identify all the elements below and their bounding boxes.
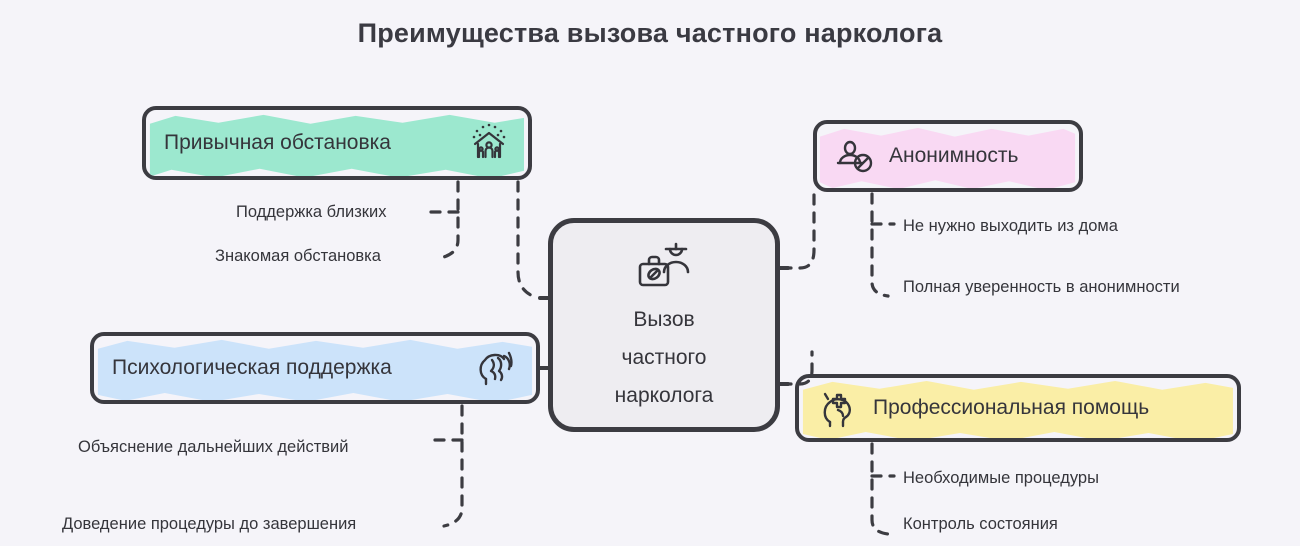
leaf-label-blue-2: Доведение процедуры до завершения	[62, 515, 356, 534]
center-label-line3: нарколога	[615, 382, 714, 410]
leaf-label-green-2: Знакомая обстановка	[215, 247, 381, 266]
center-node[interactable]: Вызов частного нарколога	[548, 218, 780, 432]
connector-pink-to-leaves	[872, 194, 888, 296]
leaf-label-yellow-1: Необходимые процедуры	[903, 469, 1099, 488]
center-label-line2: частного	[622, 344, 707, 372]
leaf-label-pink-1: Не нужно выходить из дома	[903, 217, 1118, 236]
branch-node-blue[interactable]: Психологическая поддержка	[90, 332, 540, 404]
branch-label-green: Привычная обстановка	[164, 131, 391, 155]
connector-green-to-center	[518, 182, 538, 298]
home-family-icon	[468, 122, 510, 164]
connector-center-to-pink	[782, 194, 814, 268]
branch-node-yellow[interactable]: Профессиональная помощь	[795, 374, 1241, 442]
branch-node-green[interactable]: Привычная обстановка	[142, 106, 532, 180]
doctor-with-medical-bag-icon	[632, 240, 696, 296]
branch-label-yellow: Профессиональная помощь	[873, 396, 1149, 420]
leaf-label-green-1: Поддержка близких	[236, 203, 386, 222]
branch-node-pink[interactable]: Анонимность	[813, 120, 1083, 192]
branch-label-blue: Психологическая поддержка	[112, 356, 392, 380]
branch-label-pink: Анонимность	[889, 144, 1018, 168]
anonymous-person-icon	[835, 136, 875, 176]
head-brain-icon	[476, 348, 518, 388]
head-medical-cross-icon	[817, 388, 859, 428]
page-title: Преимущества вызова частного нарколога	[0, 18, 1300, 49]
center-label-line1: Вызов	[633, 306, 694, 334]
connector-yellow-to-leaves	[872, 444, 888, 534]
leaf-label-blue-1: Объяснение дальнейших действий	[78, 438, 348, 457]
mindmap-canvas: Преимущества вызова частного нарколога	[0, 0, 1300, 546]
leaf-label-yellow-2: Контроль состояния	[903, 515, 1058, 534]
connector-blue-to-leaves	[444, 406, 462, 526]
connector-green-to-leaves	[440, 182, 458, 258]
leaf-label-pink-2: Полная уверенность в анонимности	[903, 278, 1180, 297]
